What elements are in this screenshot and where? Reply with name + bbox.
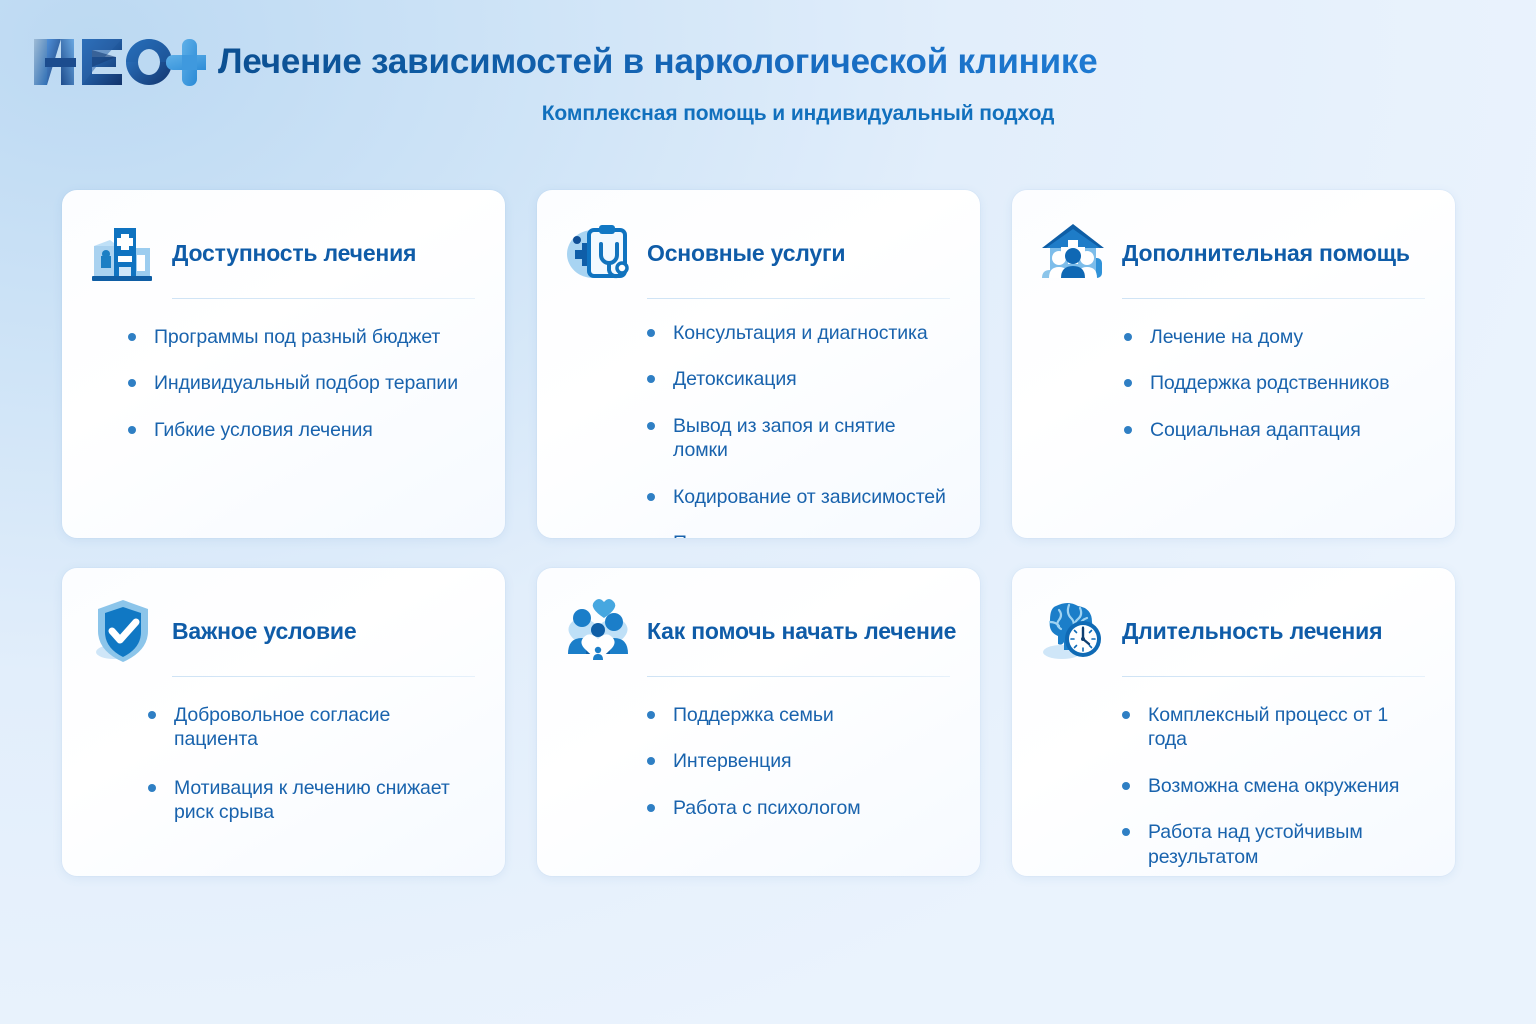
list-item-label: Кодирование от зависимостей — [673, 486, 946, 508]
list-item: Комплексный процесс от 1 года — [1122, 703, 1425, 752]
list-item-label: Поддержка родственников — [1150, 372, 1390, 394]
card-divider — [172, 676, 475, 677]
subtitle-row: Комплексная помощь и индивидуальный подх… — [0, 102, 1536, 126]
list-item-label: Консультация и диагностика — [673, 322, 928, 344]
card-kak-pomoch-nachat-lechenie[interactable]: Как помочь начать лечение Поддержка семь… — [537, 568, 980, 876]
card-title: Основные услуги — [647, 240, 950, 266]
card-bullet-list: Программы под разный бюджет Индивидуальн… — [128, 325, 475, 442]
list-item-label: Лечение на дому — [1150, 326, 1303, 348]
list-item-label: Возможна смена окружения — [1148, 775, 1399, 797]
list-item-label: Работа над устойчивым результатом — [1148, 821, 1363, 867]
card-header: Доступность лечения — [88, 216, 475, 290]
bullet-dot-icon — [128, 333, 136, 341]
list-item: Индивидуальный подбор терапии — [128, 371, 475, 395]
list-item-label: Добровольное согласие пациента — [174, 704, 390, 750]
bullet-dot-icon — [1124, 333, 1132, 341]
card-header: Как помочь начать лечение — [563, 594, 950, 668]
list-item-label: Гибкие условия лечения — [154, 419, 373, 441]
list-item-label: Вывод из запоя и снятие ломки — [673, 415, 896, 461]
card-divider — [172, 298, 475, 299]
page-header: Лечение зависимостей в наркологической к… — [0, 0, 1536, 96]
clipboard-stethoscope-icon — [563, 218, 633, 288]
bullet-dot-icon — [647, 804, 655, 812]
bullet-dot-icon — [1124, 379, 1132, 387]
page-subtitle: Комплексная помощь и индивидуальный подх… — [542, 102, 1055, 126]
feature-card-grid: Доступность лечения Программы под разный… — [62, 190, 1474, 876]
card-title: Дополнительная помощь — [1122, 240, 1425, 266]
bullet-dot-icon — [647, 422, 655, 430]
bullet-dot-icon — [1122, 711, 1130, 719]
shield-check-icon — [88, 596, 158, 666]
list-item: Работа с психологом — [647, 796, 950, 820]
card-divider — [1122, 298, 1425, 299]
page-title: Лечение зависимостей в наркологической к… — [218, 44, 1098, 81]
list-item-label: Программы под разный бюджет — [154, 326, 440, 348]
bullet-dot-icon — [148, 711, 156, 719]
list-item-label: Мотивация к лечению снижает риск срыва — [174, 777, 450, 823]
bullet-dot-icon — [128, 426, 136, 434]
card-divider — [647, 298, 950, 299]
bullet-dot-icon — [647, 375, 655, 383]
list-item: Программы под разный бюджет — [128, 325, 475, 349]
family-heart-icon — [563, 596, 633, 666]
card-title: Доступность лечения — [172, 240, 475, 266]
list-item: Поддержка семьи — [647, 703, 950, 727]
card-bullet-list: Лечение на дому Поддержка родственников … — [1124, 325, 1425, 442]
card-dopolnitelnaya-pomoshch[interactable]: Дополнительная помощь Лечение на дому По… — [1012, 190, 1455, 538]
list-item: Кодирование от зависимостей — [647, 485, 950, 509]
list-item-label: Детоксикация — [673, 368, 797, 390]
list-item: Возможна смена окружения — [1122, 774, 1425, 798]
card-header: Дополнительная помощь — [1038, 216, 1425, 290]
card-title: Как помочь начать лечение — [647, 618, 956, 644]
card-dostupnost-lecheniya[interactable]: Доступность лечения Программы под разный… — [62, 190, 505, 538]
card-osnovnye-uslugi[interactable]: Основные услуги Консультация и диагности… — [537, 190, 980, 538]
bullet-dot-icon — [647, 711, 655, 719]
bullet-dot-icon — [1124, 426, 1132, 434]
card-bullet-list: Комплексный процесс от 1 года Возможна с… — [1122, 703, 1425, 869]
card-dlitelnost-lecheniya[interactable]: Длительность лечения Комплексный процесс… — [1012, 568, 1455, 876]
card-title: Длительность лечения — [1122, 618, 1425, 644]
list-item: Работа над устойчивым результатом — [1122, 820, 1425, 869]
card-title: Важное условие — [172, 618, 475, 644]
bullet-dot-icon — [647, 757, 655, 765]
list-item: Консультация и диагностика — [647, 321, 950, 345]
list-item-label: Поддержка семьи — [673, 704, 834, 726]
list-item: Добровольное согласие пациента — [148, 703, 475, 752]
hospital-building-icon — [88, 218, 158, 288]
bullet-dot-icon — [647, 493, 655, 501]
card-bullet-list: Поддержка семьи Интервенция Работа с пси… — [647, 703, 950, 820]
list-item-label: Индивидуальный подбор терапии — [154, 372, 458, 394]
bullet-dot-icon — [1122, 828, 1130, 836]
card-header: Длительность лечения — [1038, 594, 1425, 668]
list-item: Помощь при интоксикации — [647, 531, 950, 538]
list-item: Интервенция — [647, 749, 950, 773]
brain-clock-icon — [1038, 596, 1108, 666]
bullet-dot-icon — [647, 329, 655, 337]
card-vazhnoe-uslovie[interactable]: Важное условие Добровольное согласие пац… — [62, 568, 505, 876]
list-item-label: Комплексный процесс от 1 года — [1148, 704, 1388, 750]
list-item: Детоксикация — [647, 367, 950, 391]
list-item-label: Работа с психологом — [673, 797, 861, 819]
list-item: Вывод из запоя и снятие ломки — [647, 414, 950, 463]
neo-plus-logo — [30, 33, 206, 91]
bullet-dot-icon — [1122, 782, 1130, 790]
list-item: Мотивация к лечению снижает риск срыва — [148, 776, 475, 825]
list-item-label: Социальная адаптация — [1150, 419, 1361, 441]
card-bullet-list: Добровольное согласие пациента Мотивация… — [148, 703, 475, 825]
list-item: Поддержка родственников — [1124, 371, 1425, 395]
list-item: Гибкие условия лечения — [128, 418, 475, 442]
list-item-label: Помощь при интоксикации — [673, 532, 913, 538]
card-divider — [647, 676, 950, 677]
list-item: Лечение на дому — [1124, 325, 1425, 349]
bullet-dot-icon — [148, 784, 156, 792]
card-header: Основные услуги — [563, 216, 950, 290]
card-bullet-list: Консультация и диагностика Детоксикация … — [647, 321, 950, 538]
card-divider — [1122, 676, 1425, 677]
bullet-dot-icon — [128, 379, 136, 387]
list-item-label: Интервенция — [673, 750, 791, 772]
house-with-family-icon — [1038, 218, 1108, 288]
card-header: Важное условие — [88, 594, 475, 668]
list-item: Социальная адаптация — [1124, 418, 1425, 442]
